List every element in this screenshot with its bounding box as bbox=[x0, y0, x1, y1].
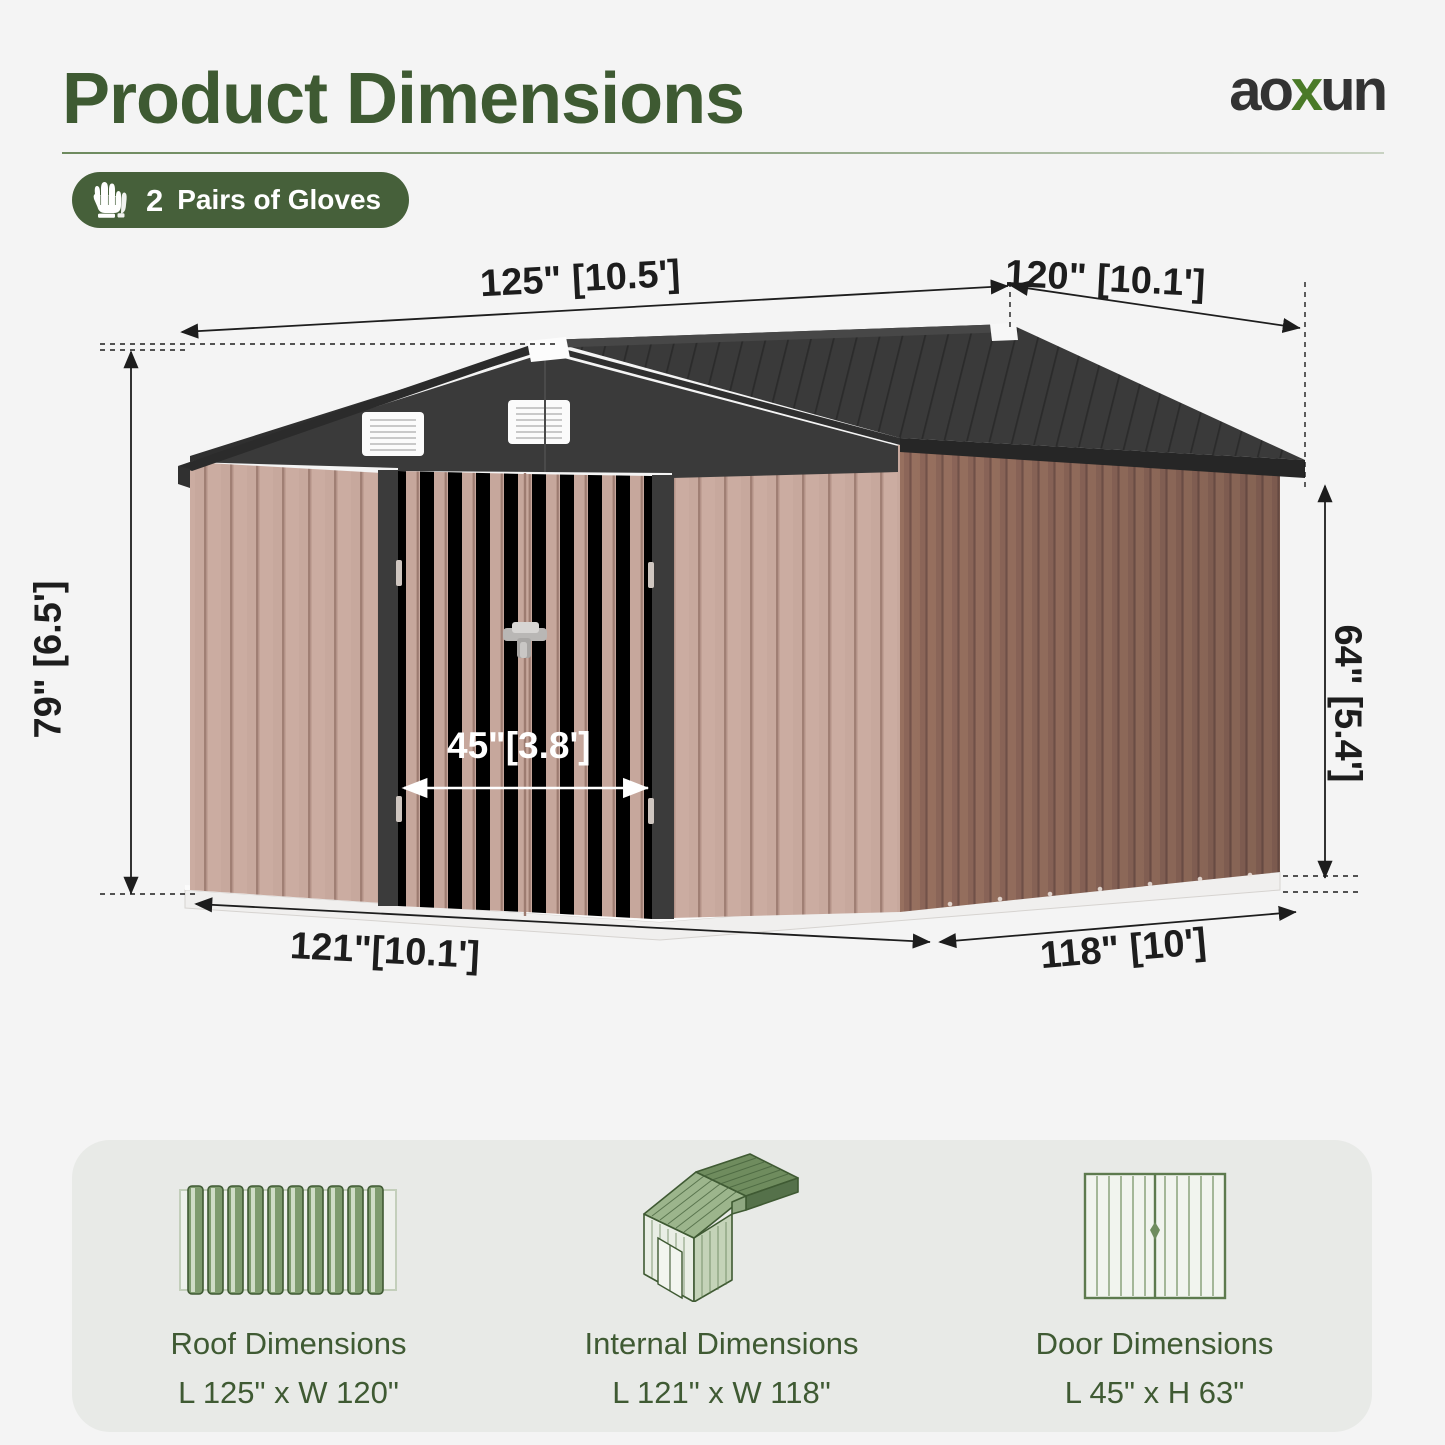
logo-accent-letter: x bbox=[1291, 58, 1320, 123]
roof-vent-left bbox=[362, 412, 424, 456]
gloves-icon bbox=[88, 180, 132, 220]
dimension-door-width: 45"[3.8'] bbox=[447, 725, 591, 767]
shed-front-wall bbox=[190, 445, 900, 919]
logo-part-a: ao bbox=[1229, 58, 1291, 123]
spec-value: L 45" x H 63" bbox=[1065, 1375, 1244, 1411]
double-door-icon bbox=[1081, 1170, 1229, 1302]
page-title: Product Dimensions bbox=[62, 58, 744, 140]
roof-vent-right bbox=[508, 400, 570, 444]
specifications-card: Roof Dimensions L 125" x W 120" bbox=[72, 1140, 1372, 1432]
shed-3d-icon bbox=[622, 1170, 822, 1302]
dimension-height-right: 64" [5.4'] bbox=[1326, 624, 1369, 782]
gloves-count: 2 bbox=[146, 185, 163, 216]
spec-title: Internal Dimensions bbox=[585, 1326, 859, 1362]
shed-side-wall bbox=[900, 445, 1280, 912]
spec-value: L 121" x W 118" bbox=[612, 1375, 830, 1411]
shed-door-right bbox=[526, 474, 652, 919]
spec-title: Door Dimensions bbox=[1036, 1326, 1274, 1362]
product-dimensions-infographic: Product Dimensions aoxun 2 Pairs of Glov… bbox=[0, 0, 1445, 1445]
shed-drawing bbox=[0, 240, 1445, 1030]
brand-logo: aoxun bbox=[1229, 62, 1385, 120]
spec-door-dimensions: Door Dimensions L 45" x H 63" bbox=[938, 1140, 1371, 1432]
shed-illustration: 125" [10.5'] 120" [10.1'] 79" [6.5'] 64"… bbox=[0, 240, 1445, 1030]
spec-title: Roof Dimensions bbox=[170, 1326, 406, 1362]
header-divider bbox=[62, 152, 1384, 154]
spec-roof-dimensions: Roof Dimensions L 125" x W 120" bbox=[72, 1140, 505, 1432]
logo-part-b: un bbox=[1320, 58, 1385, 123]
dimension-height-left: 79" [6.5'] bbox=[28, 580, 71, 738]
gloves-badge: 2 Pairs of Gloves bbox=[72, 172, 409, 228]
roof-panel-icon bbox=[174, 1170, 404, 1302]
shed-door-left bbox=[398, 471, 524, 912]
spec-internal-dimensions: Internal Dimensions L 121" x W 118" bbox=[505, 1140, 938, 1432]
spec-value: L 125" x W 120" bbox=[178, 1375, 399, 1411]
gloves-label: Pairs of Gloves bbox=[177, 186, 381, 214]
header: Product Dimensions aoxun bbox=[0, 0, 1445, 150]
